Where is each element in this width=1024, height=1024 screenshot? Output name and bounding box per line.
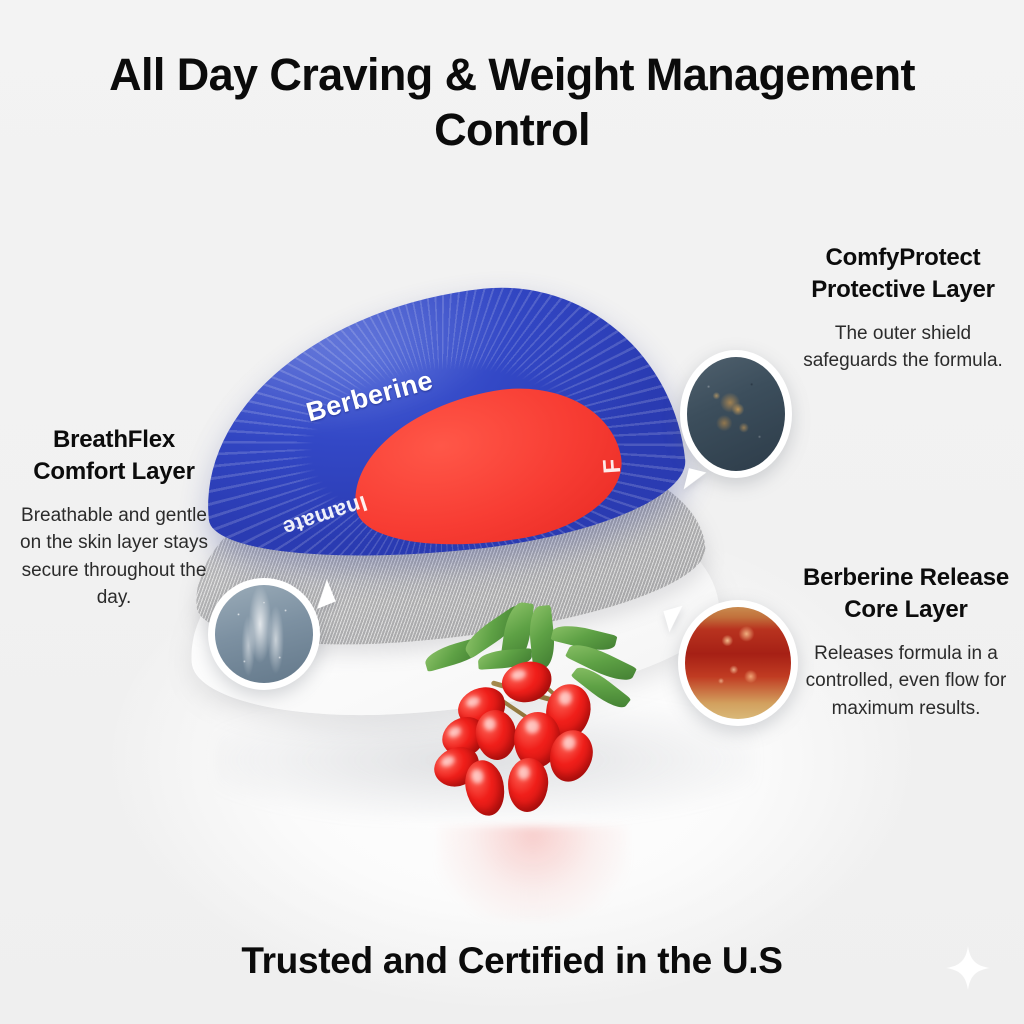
label-berberine-release-title: Berberine Release Core Layer: [800, 562, 1012, 626]
berry: [506, 757, 550, 814]
label-berberine-release: Berberine Release Core Layer Releases fo…: [800, 562, 1012, 722]
breathable-layer-closeup: [208, 578, 320, 690]
label-breathflex-title: BreathFlex Comfort Layer: [8, 424, 220, 488]
protective-layer-closeup: [680, 350, 792, 478]
protective-layer-texture: [687, 357, 785, 471]
page-title: All Day Craving & Weight Management Cont…: [50, 48, 974, 158]
patch-edge-letter: F: [598, 458, 627, 475]
label-breathflex: BreathFlex Comfort Layer Breathable and …: [8, 424, 220, 612]
berry: [473, 708, 518, 762]
label-comfyprotect-title: ComfyProtect Protective Layer: [796, 242, 1010, 306]
release-core-closeup: [678, 600, 798, 726]
product-infographic: All Day Craving & Weight Management Cont…: [0, 0, 1024, 1024]
patch-brand-text: Inamate: [279, 490, 370, 542]
label-comfyprotect-body: The outer shield safeguards the formula.: [796, 320, 1010, 375]
berry-reflection: [438, 826, 628, 922]
barberry-cluster: [420, 600, 640, 840]
breathable-layer-texture: [215, 585, 313, 683]
label-breathflex-body: Breathable and gentle on the skin layer …: [8, 502, 220, 612]
label-comfyprotect: ComfyProtect Protective Layer The outer …: [796, 242, 1010, 375]
footer-certification-text: Trusted and Certified in the U.S: [50, 940, 974, 982]
release-core-texture: [685, 607, 791, 719]
label-berberine-release-body: Releases formula in a controlled, even f…: [800, 640, 1012, 723]
